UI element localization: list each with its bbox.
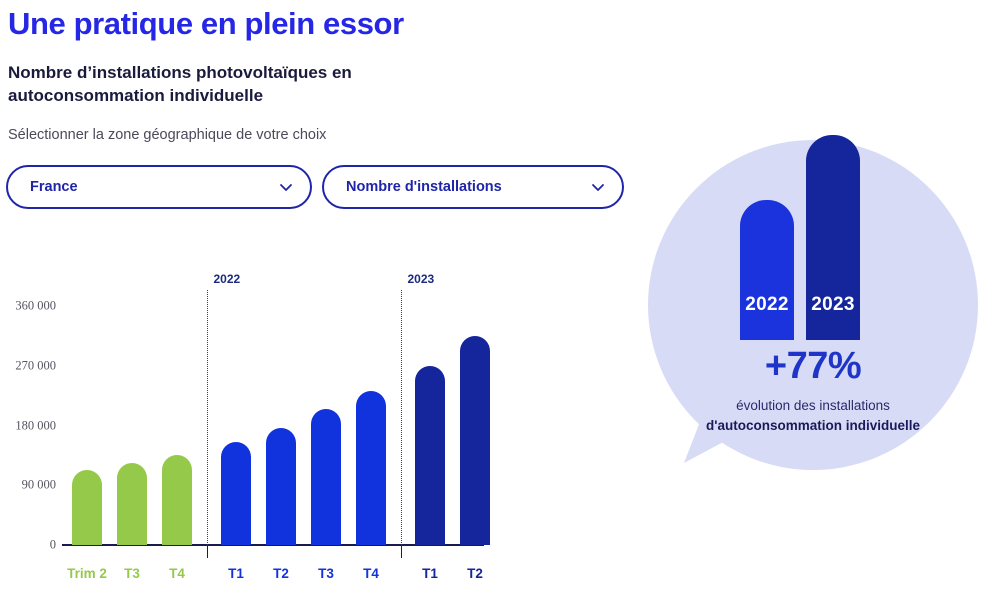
x-axis-tick-label: T4 bbox=[150, 566, 204, 581]
callout-mini-chart: 2022 2023 bbox=[648, 115, 978, 340]
bar-chart: 090 000180 000270 000360 000 Trim 2T3T4T… bbox=[0, 262, 500, 589]
year-separator bbox=[401, 290, 402, 553]
page-title: Une pratique en plein essor bbox=[8, 6, 404, 42]
callout-bar-2023-label: 2023 bbox=[811, 294, 854, 316]
chevron-down-icon bbox=[590, 179, 606, 195]
year-label: 2022 bbox=[214, 272, 241, 286]
zone-select[interactable]: France bbox=[6, 165, 312, 209]
year-separator-tick bbox=[207, 546, 208, 558]
chart-bar[interactable] bbox=[117, 463, 147, 545]
chart-bar[interactable] bbox=[72, 470, 102, 545]
chart-bar[interactable] bbox=[162, 455, 192, 545]
x-axis-tick-label: T4 bbox=[344, 566, 398, 581]
chart-bar[interactable] bbox=[356, 391, 386, 545]
zone-select-value: France bbox=[30, 179, 278, 195]
callout-bar-2022: 2022 bbox=[740, 200, 794, 340]
metric-select-value: Nombre d'installations bbox=[346, 179, 590, 195]
callout-bar-2022-label: 2022 bbox=[745, 294, 788, 316]
growth-caption-line2: d'autoconsommation individuelle bbox=[648, 418, 978, 433]
chart-bar[interactable] bbox=[460, 336, 490, 545]
y-axis-tick-label: 360 000 bbox=[15, 299, 56, 314]
x-axis-tick-label: T2 bbox=[448, 566, 502, 581]
metric-select[interactable]: Nombre d'installations bbox=[322, 165, 624, 209]
chart-subtitle: Nombre d’installations photovoltaïques e… bbox=[8, 62, 438, 108]
chart-bar[interactable] bbox=[266, 428, 296, 545]
y-axis-tick-label: 0 bbox=[50, 538, 56, 553]
growth-callout: 2022 2023 +77% évolution des installatio… bbox=[648, 140, 978, 470]
y-axis-tick-label: 270 000 bbox=[15, 358, 56, 373]
year-separator-tick bbox=[401, 546, 402, 558]
y-axis: 090 000180 000270 000360 000 bbox=[0, 262, 56, 589]
y-axis-tick-label: 90 000 bbox=[22, 478, 56, 493]
year-separator bbox=[207, 290, 208, 553]
year-label: 2023 bbox=[408, 272, 435, 286]
select-helper-text: Sélectionner la zone géographique de vot… bbox=[8, 127, 326, 143]
chart-bar[interactable] bbox=[311, 409, 341, 545]
plot-area: Trim 2T3T4T1T2T3T4T1T220222023 bbox=[62, 262, 484, 589]
growth-caption-line1: évolution des installations bbox=[648, 398, 978, 413]
chart-bar[interactable] bbox=[221, 442, 251, 545]
chevron-down-icon bbox=[278, 179, 294, 195]
chart-bar[interactable] bbox=[415, 366, 445, 545]
growth-percent: +77% bbox=[648, 345, 978, 388]
callout-bar-2023: 2023 bbox=[806, 135, 860, 340]
y-axis-tick-label: 180 000 bbox=[15, 418, 56, 433]
